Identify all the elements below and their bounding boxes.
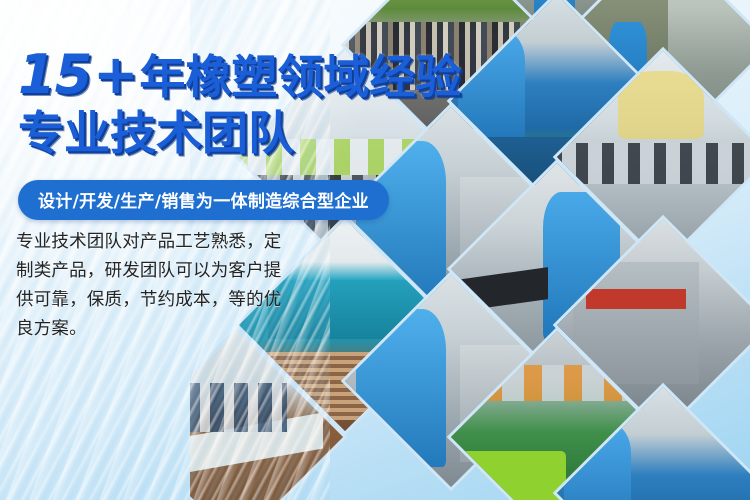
years-number: 15 bbox=[18, 43, 93, 106]
headline-line-1-suffix: 年橡塑领域经验 bbox=[139, 50, 461, 104]
promo-banner: 15+年橡塑领域经验 专业技术团队 设计/开发/生产/销售为一体制造综合型企业 … bbox=[0, 0, 750, 500]
headline-line-2: 专业技术团队 bbox=[18, 110, 294, 156]
description-paragraph: 专业技术团队对产品工艺熟悉，定制类产品，研发团队可以为客户提供可靠，保质，节约成… bbox=[16, 228, 284, 344]
capability-pill: 设计/开发/生产/销售为一体制造综合型企业 bbox=[18, 180, 389, 220]
headline-line-1: 15+年橡塑领域经验 bbox=[18, 48, 461, 102]
text-block: 15+年橡塑领域经验 专业技术团队 设计/开发/生产/销售为一体制造综合型企业 … bbox=[0, 0, 470, 500]
plus-sign: + bbox=[93, 43, 139, 106]
